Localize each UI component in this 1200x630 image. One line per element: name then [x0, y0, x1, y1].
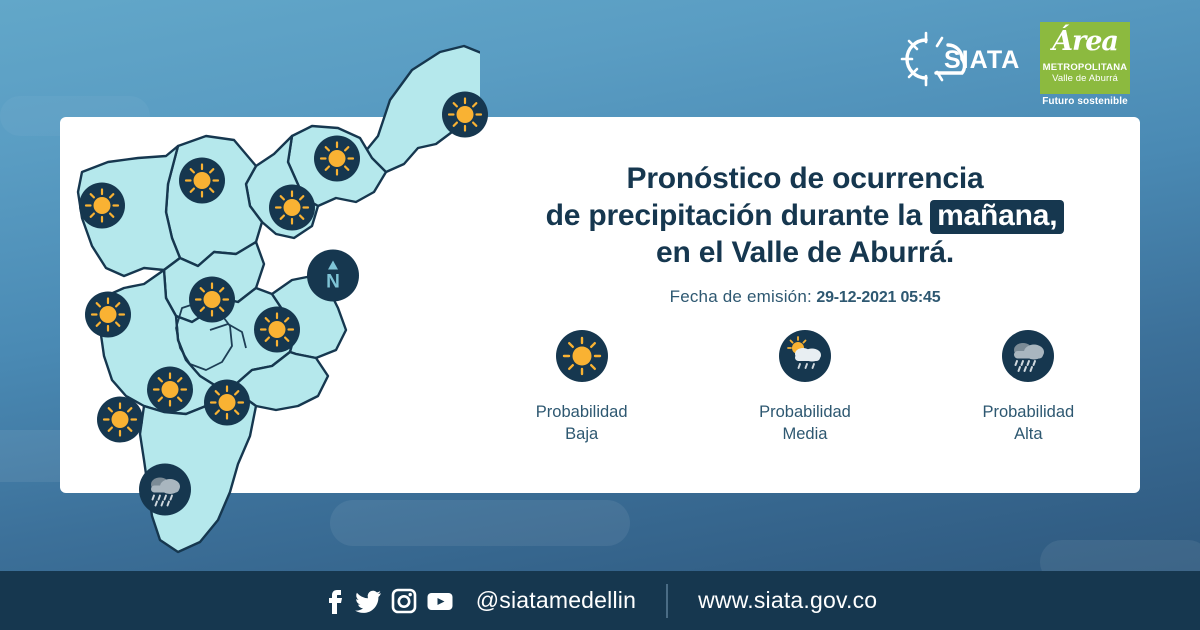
legend-baja-line1: Probabilidad — [470, 401, 693, 423]
instagram-icon[interactable] — [391, 588, 417, 614]
weather-marker-sabaneta[interactable] — [147, 367, 193, 418]
issue-date-label: Fecha de emisión: — [670, 287, 812, 306]
social-links — [323, 588, 454, 614]
legend-item-alta: Probabilidad Alta — [917, 330, 1140, 445]
valle-de-aburra-map: N — [60, 40, 480, 580]
weather-marker-caldas[interactable] — [204, 380, 250, 431]
sun-icon — [314, 136, 360, 182]
title-line-3: en el Valle de Aburrá. — [470, 234, 1140, 271]
legend-media-line1: Probabilidad — [693, 401, 916, 423]
area-logo-script: Área — [1040, 22, 1130, 62]
sun-icon — [254, 307, 300, 353]
legend-label-media: Probabilidad Media — [693, 401, 916, 445]
cloud-heavy-rain-icon — [139, 464, 191, 516]
sun-cloud-rain-icon — [779, 330, 831, 382]
legend-item-baja: Probabilidad Baja — [470, 330, 693, 445]
title-line-1: Pronóstico de ocurrencia — [470, 160, 1140, 197]
weather-marker-itagui[interactable] — [85, 292, 131, 343]
legend-item-media: Probabilidad Media — [693, 330, 916, 445]
legend-alta-line1: Probabilidad — [917, 401, 1140, 423]
weather-marker-la-estrella[interactable] — [97, 397, 143, 448]
title-line-2-text: de precipitación durante la — [546, 199, 922, 232]
youtube-icon[interactable] — [426, 588, 454, 614]
facebook-icon[interactable] — [323, 588, 345, 614]
weather-marker-barbosa[interactable] — [442, 92, 488, 143]
footer-divider — [666, 584, 668, 618]
title-line-2: de precipitación durante la mañana, — [470, 197, 1140, 234]
social-handle[interactable]: @siatamedellin — [476, 587, 636, 614]
title-highlight-manana: mañana, — [930, 200, 1064, 234]
sun-icon — [97, 397, 143, 443]
area-logo-line1: METROPOLITANA — [1040, 62, 1130, 73]
cloud-heavy-rain-icon — [1002, 330, 1054, 382]
area-metropolitana-logo: Área METROPOLITANA Valle de Aburrá — [1040, 22, 1130, 94]
probability-legend: Probabilidad Baja Probabilidad Media — [470, 330, 1140, 445]
svg-text:SIATA: SIATA — [944, 46, 1020, 74]
siata-logo: SIATA — [896, 28, 1026, 95]
weather-marker-copacabana[interactable] — [269, 185, 315, 236]
sun-icon — [442, 92, 488, 138]
weather-marker-bello[interactable] — [179, 158, 225, 209]
sun-icon — [269, 185, 315, 231]
sun-icon — [79, 183, 125, 229]
legend-media-line2: Media — [693, 423, 916, 445]
compass-north-icon: N — [307, 250, 359, 302]
sun-icon — [204, 380, 250, 426]
sun-icon — [179, 158, 225, 204]
weather-marker-caldas-sur[interactable] — [139, 464, 191, 521]
area-logo-line2: Valle de Aburrá — [1040, 73, 1130, 84]
weather-marker-san-pedro[interactable] — [79, 183, 125, 234]
area-logo-tagline: Futuro sostenible — [1040, 96, 1130, 107]
weather-marker-envigado[interactable] — [254, 307, 300, 358]
sun-icon — [556, 330, 608, 382]
issue-date-value: 29-12-2021 05:45 — [816, 289, 940, 306]
weather-marker-girardota[interactable] — [314, 136, 360, 187]
sun-icon — [189, 277, 235, 323]
siata-sun-cloud-icon: SIATA — [896, 28, 1026, 90]
twitter-icon[interactable] — [354, 588, 382, 614]
svg-text:N: N — [326, 272, 340, 293]
issue-date: Fecha de emisión: 29-12-2021 05:45 — [470, 287, 1140, 307]
footer-bar: @siatamedellin www.siata.gov.co — [0, 571, 1200, 630]
sun-icon — [85, 292, 131, 338]
sun-icon — [147, 367, 193, 413]
legend-baja-line2: Baja — [470, 423, 693, 445]
headline-block: Pronóstico de ocurrencia de precipitació… — [470, 160, 1140, 307]
legend-label-baja: Probabilidad Baja — [470, 401, 693, 445]
page-title: Pronóstico de ocurrencia de precipitació… — [470, 160, 1140, 271]
legend-label-alta: Probabilidad Alta — [917, 401, 1140, 445]
weather-marker-medellin[interactable] — [189, 277, 235, 328]
compass-rose: N — [307, 250, 359, 307]
website-url[interactable]: www.siata.gov.co — [698, 587, 877, 614]
legend-alta-line2: Alta — [917, 423, 1140, 445]
